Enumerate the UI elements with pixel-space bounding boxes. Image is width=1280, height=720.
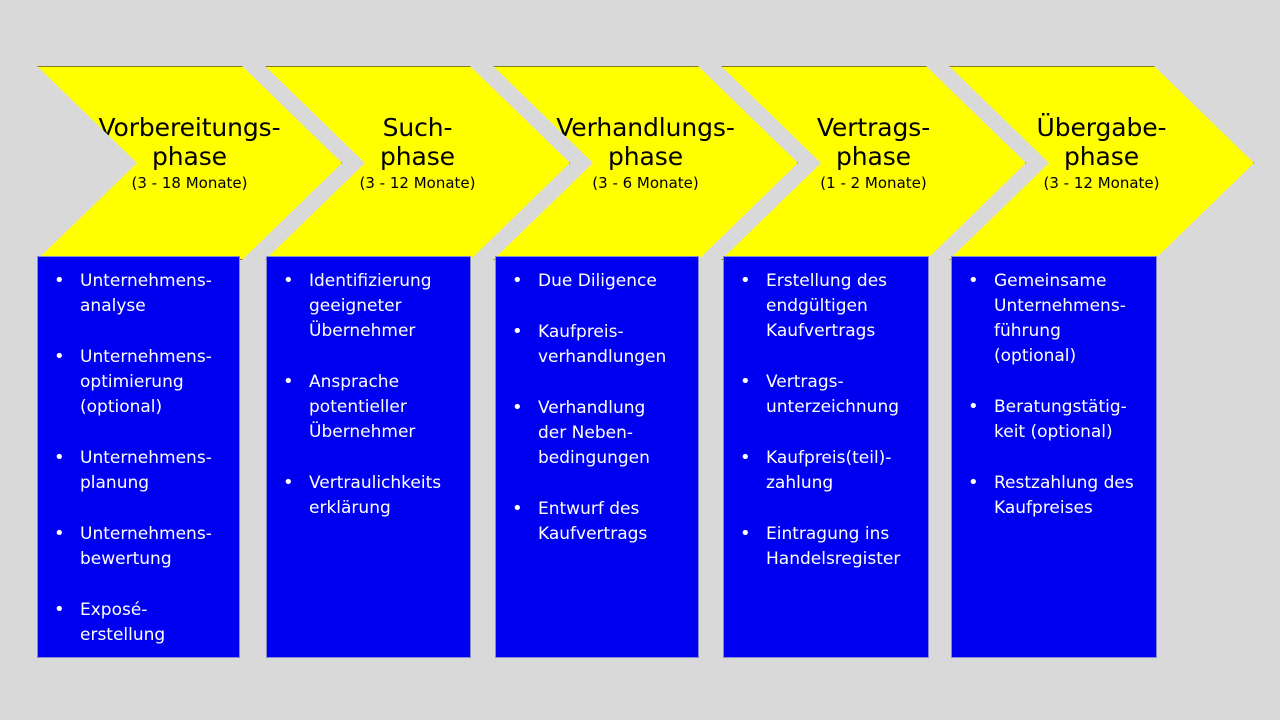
list-item: Beratungstätig- keit (optional): [960, 395, 1146, 445]
list-item: Kaufpreis(teil)- zahlung: [732, 446, 918, 496]
list-item: Vertrags- unterzeichnung: [732, 370, 918, 420]
chevron-content: Such- phase (3 - 12 Monate): [366, 67, 469, 259]
phase-title: Vertrags- phase: [817, 113, 930, 171]
chevron-content: Verhandlungs- phase (3 - 6 Monate): [594, 67, 697, 259]
phase-panel-suchphase[interactable]: Identifizierung geeigneter Übernehmer An…: [266, 256, 471, 658]
phase-duration: (1 - 2 Monate): [820, 174, 926, 192]
phase-duration: (3 - 18 Monate): [132, 174, 248, 192]
phase-task-list: Erstellung des endgültigen Kaufvertrags …: [732, 269, 918, 572]
list-item: Gemeinsame Unternehmens- führung (option…: [960, 269, 1146, 369]
phase-title: Verhandlungs- phase: [556, 113, 735, 171]
process-diagram: Vorbereitungs- phase (3 - 18 Monate) Suc…: [0, 0, 1280, 720]
chevron-content: Vorbereitungs- phase (3 - 18 Monate): [138, 67, 241, 259]
phase-title: Such- phase: [380, 113, 455, 171]
list-item: Eintragung ins Handelsregister: [732, 522, 918, 572]
list-item: Identifizierung geeigneter Übernehmer: [275, 269, 460, 344]
list-item: Verhandlung der Neben- bedingungen: [504, 396, 688, 471]
list-item: Unternehmens- optimierung (optional): [46, 345, 229, 420]
list-item: Unternehmens- planung: [46, 446, 229, 496]
list-item: Ansprache potentieller Übernehmer: [275, 370, 460, 445]
phase-panel-vorbereitungsphase[interactable]: Unternehmens- analyse Unternehmens- opti…: [37, 256, 240, 658]
list-item: Vertraulichkeits erklärung: [275, 471, 460, 521]
phase-task-list: Due Diligence Kaufpreis- verhandlungen V…: [504, 269, 688, 547]
phase-panel-verhandlungsphase[interactable]: Due Diligence Kaufpreis- verhandlungen V…: [495, 256, 699, 658]
phase-panel-uebergabephase[interactable]: Gemeinsame Unternehmens- führung (option…: [951, 256, 1157, 658]
list-item: Unternehmens- bewertung: [46, 522, 229, 572]
phase-title: Vorbereitungs- phase: [98, 113, 280, 171]
phase-task-list: Unternehmens- analyse Unternehmens- opti…: [46, 269, 229, 648]
chevron-content: Vertrags- phase (1 - 2 Monate): [822, 67, 925, 259]
list-item: Unternehmens- analyse: [46, 269, 229, 319]
list-item: Due Diligence: [504, 269, 688, 294]
list-item: Kaufpreis- verhandlungen: [504, 320, 688, 370]
phase-duration: (3 - 12 Monate): [360, 174, 476, 192]
chevron-content: Übergabe- phase (3 - 12 Monate): [1050, 67, 1153, 259]
list-item: Restzahlung des Kaufpreises: [960, 471, 1146, 521]
phase-task-list: Gemeinsame Unternehmens- führung (option…: [960, 269, 1146, 521]
phase-duration: (3 - 6 Monate): [592, 174, 698, 192]
list-item: Exposé- erstellung: [46, 598, 229, 648]
phase-task-list: Identifizierung geeigneter Übernehmer An…: [275, 269, 460, 521]
phase-title: Übergabe- phase: [1037, 113, 1167, 171]
phase-duration: (3 - 12 Monate): [1044, 174, 1160, 192]
list-item: Entwurf des Kaufvertrags: [504, 497, 688, 547]
phase-panel-vertragsphase[interactable]: Erstellung des endgültigen Kaufvertrags …: [723, 256, 929, 658]
list-item: Erstellung des endgültigen Kaufvertrags: [732, 269, 918, 344]
